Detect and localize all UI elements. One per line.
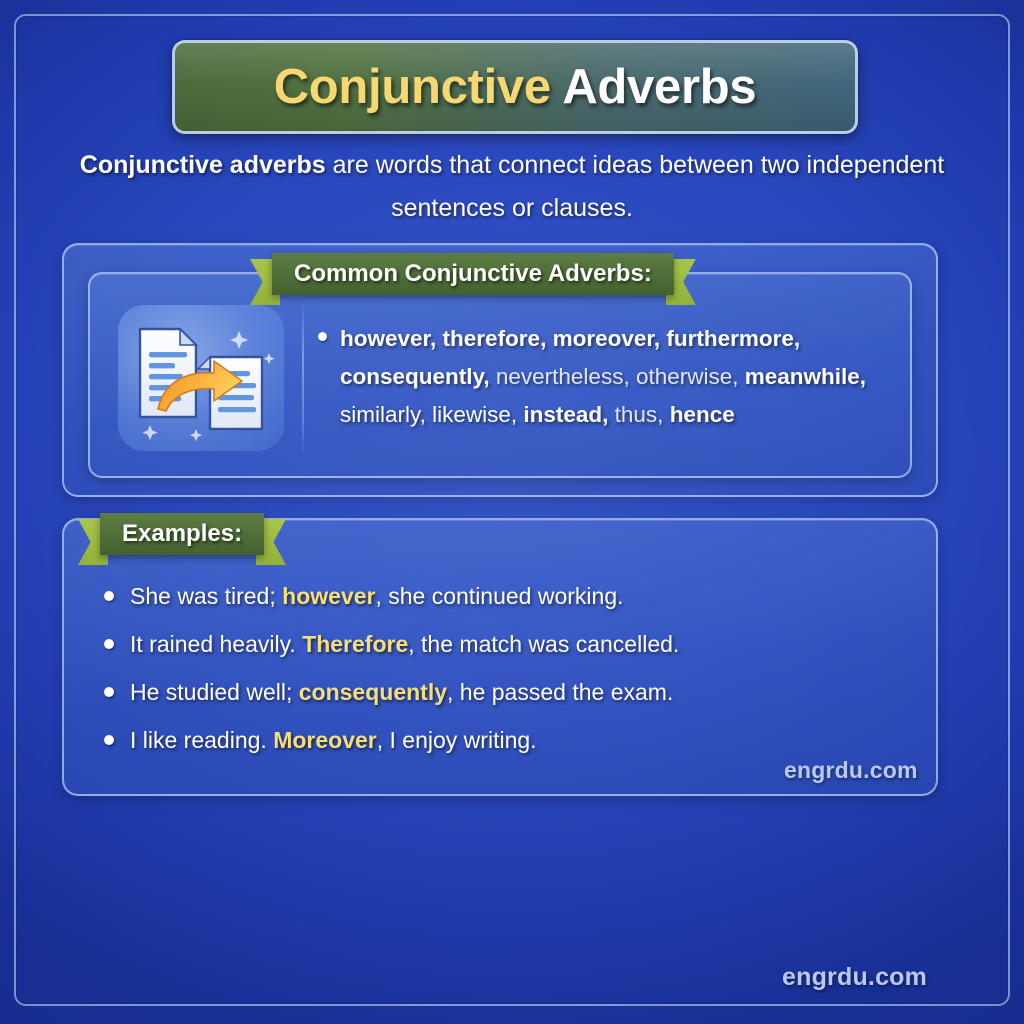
icon-list-divider [302,305,304,453]
example-after: , the match was cancelled. [408,631,679,657]
title-banner: Conjunctive Adverbs [172,40,858,134]
example-highlight: however [282,583,375,609]
page-title-part-yellow: Conjunctive [274,60,551,114]
example-text: She was tired; however, she continued wo… [130,584,624,608]
ribbon-body: Common Conjunctive Adverbs: [272,253,674,295]
list-item: She was tired; however, she continued wo… [100,572,900,620]
example-before: It rained heavily. [130,631,302,657]
common-adverbs-ribbon-label: Common Conjunctive Adverbs: [294,260,652,288]
adverbs-line-1: however, therefore, moreover, furthermor… [340,326,800,351]
document-target-icon [198,357,262,429]
adverbs-line-4: hence [670,402,735,427]
poster-canvas: Conjunctive Adverbs Conjunctive adverbs … [0,0,1024,1024]
adverbs-line-3-bold-b: instead, [523,402,608,427]
example-after: , I enjoy writing. [377,727,537,753]
list-item: It rained heavily. Therefore, the match … [100,620,900,668]
examples-list: She was tired; however, she continued wo… [100,572,900,764]
list-bullet-icon [104,591,114,601]
example-highlight: consequently [299,679,447,705]
adverbs-line-2-light: nevertheless, otherwise, [490,364,739,389]
list-bullet-icon [104,735,114,745]
example-before: He studied well; [130,679,299,705]
example-before: I like reading. [130,727,273,753]
example-text: I like reading. Moreover, I enjoy writin… [130,728,537,752]
subtitle-rest: are words that connect ideas between two… [326,151,944,222]
adverbs-line-3-light: thus, [608,402,663,427]
page-title-part-white: Adverbs [551,60,756,114]
example-highlight: Moreover [273,727,377,753]
watermark-panel: engrdu.com [784,757,918,784]
list-bullet-icon [104,687,114,697]
adverbs-line-3-bold-a: meanwhile, [745,364,866,389]
documents-arrow-svg [118,305,284,451]
examples-ribbon-label: Examples: [122,520,242,548]
example-after: , he passed the exam. [447,679,673,705]
adverbs-line-2-bold: consequently, [340,364,490,389]
list-bullet-icon [318,332,327,341]
subtitle-bold-lead: Conjunctive adverbs [80,151,326,179]
documents-connected-arrow-icon [118,305,284,451]
example-after: , she continued working. [375,583,623,609]
adverbs-list-text: however, therefore, moreover, furthermor… [318,320,918,434]
examples-ribbon: Examples: [100,513,264,555]
common-adverbs-ribbon: Common Conjunctive Adverbs: [272,253,674,295]
page-title: Conjunctive Adverbs [274,59,757,115]
example-text: He studied well; consequently, he passed… [130,680,673,704]
ribbon-body: Examples: [100,513,264,555]
adverbs-line-3-reg: similarly, likewise, [340,402,523,427]
example-before: She was tired; [130,583,282,609]
example-highlight: Therefore [302,631,408,657]
list-item: He studied well; consequently, he passed… [100,668,900,716]
example-text: It rained heavily. Therefore, the match … [130,632,679,656]
subtitle-description: Conjunctive adverbs are words that conne… [72,144,952,230]
list-item: I like reading. Moreover, I enjoy writin… [100,716,900,764]
list-bullet-icon [104,639,114,649]
adverbs-list: however, therefore, moreover, furthermor… [318,320,918,434]
watermark-footer: engrdu.com [782,963,927,992]
